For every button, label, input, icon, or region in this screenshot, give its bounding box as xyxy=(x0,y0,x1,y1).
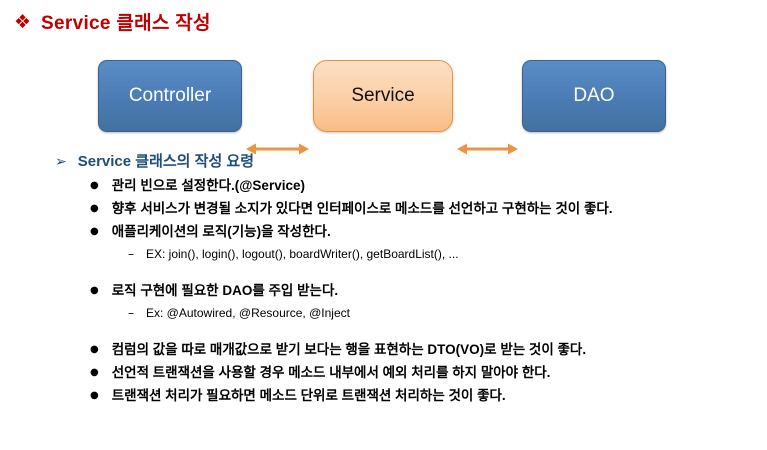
list-item-text: 로직 구현에 필요한 DAO를 주입 받는다. xyxy=(112,279,338,302)
list-item-text: 관리 빈으로 설정한다.(@Service) xyxy=(112,174,305,197)
list-item: ● 로직 구현에 필요한 DAO를 주입 받는다. xyxy=(90,279,767,302)
list-item: ● 컴럼의 값을 따로 매개값으로 받기 보다는 행을 표현하는 DTO(VO)… xyxy=(90,338,767,361)
list-item-text: 향후 서비스가 변경될 소지가 있다면 인터페이스로 메소드를 선언하고 구현하… xyxy=(112,197,613,220)
sub-list-item: – EX: join(), login(), logout(), boardWr… xyxy=(128,243,767,265)
disc-bullet-icon: ● xyxy=(90,361,99,384)
architecture-diagram: Controller Service DAO xyxy=(0,55,767,140)
list-item: ● 선언적 트랜잭션을 사용할 경우 메소드 내부에서 예외 처리를 하지 말아… xyxy=(90,361,767,384)
diagram-node-dao: DAO xyxy=(522,60,666,132)
diagram-node-service-label: Service xyxy=(351,85,414,107)
disc-bullet-icon: ● xyxy=(90,384,99,407)
list-item: ● 관리 빈으로 설정한다.(@Service) xyxy=(90,174,767,197)
list-item-text: 컴럼의 값을 따로 매개값으로 받기 보다는 행을 표현하는 DTO(VO)로 … xyxy=(112,338,586,361)
disc-bullet-icon: ● xyxy=(90,279,99,302)
diagram-node-controller-label: Controller xyxy=(129,85,211,107)
list-item-text: 선언적 트랜잭션을 사용할 경우 메소드 내부에서 예외 처리를 하지 말아야 … xyxy=(112,361,551,384)
diagram-node-dao-label: DAO xyxy=(573,85,614,107)
disc-bullet-icon: ● xyxy=(90,174,99,197)
section-heading-text: Service 클래스의 작성 요령 xyxy=(78,152,254,172)
list-item-text: 애플리케이션의 로직(기능)을 작성한다. xyxy=(112,220,331,243)
dash-bullet-icon: – xyxy=(128,302,134,324)
content-body: ➢ Service 클래스의 작성 요령 ● 관리 빈으로 설정한다.(@Ser… xyxy=(0,152,767,407)
list-item-text: 트랜잭션 처리가 필요하면 메소드 단위로 트랜잭션 처리하는 것이 좋다. xyxy=(112,384,506,407)
sub-list-item-text: EX: join(), login(), logout(), boardWrit… xyxy=(146,243,459,265)
spacer xyxy=(0,265,767,279)
diagram-node-controller: Controller xyxy=(98,60,242,132)
dash-bullet-icon: – xyxy=(128,243,134,265)
disc-bullet-icon: ● xyxy=(90,220,99,243)
section-heading: ➢ Service 클래스의 작성 요령 xyxy=(55,152,767,172)
spacer xyxy=(0,324,767,338)
sub-list-item: – Ex: @Autowired, @Resource, @Inject xyxy=(128,302,767,324)
diagram-node-service: Service xyxy=(313,60,453,132)
slide-canvas: ❖ Service 클래스 작성 Controller Service xyxy=(0,0,767,450)
disc-bullet-icon: ● xyxy=(90,338,99,361)
diamond-bullet-icon: ❖ xyxy=(14,13,31,32)
slide-title: ❖ Service 클래스 작성 xyxy=(14,8,211,35)
sub-list-item-text: Ex: @Autowired, @Resource, @Inject xyxy=(146,302,350,324)
list-item: ● 트랜잭션 처리가 필요하면 메소드 단위로 트랜잭션 처리하는 것이 좋다. xyxy=(90,384,767,407)
disc-bullet-icon: ● xyxy=(90,197,99,220)
list-item: ● 애플리케이션의 로직(기능)을 작성한다. xyxy=(90,220,767,243)
arrowhead-bullet-icon: ➢ xyxy=(55,152,67,172)
slide-title-text: Service 클래스 작성 xyxy=(41,8,211,35)
list-item: ● 향후 서비스가 변경될 소지가 있다면 인터페이스로 메소드를 선언하고 구… xyxy=(90,197,767,220)
